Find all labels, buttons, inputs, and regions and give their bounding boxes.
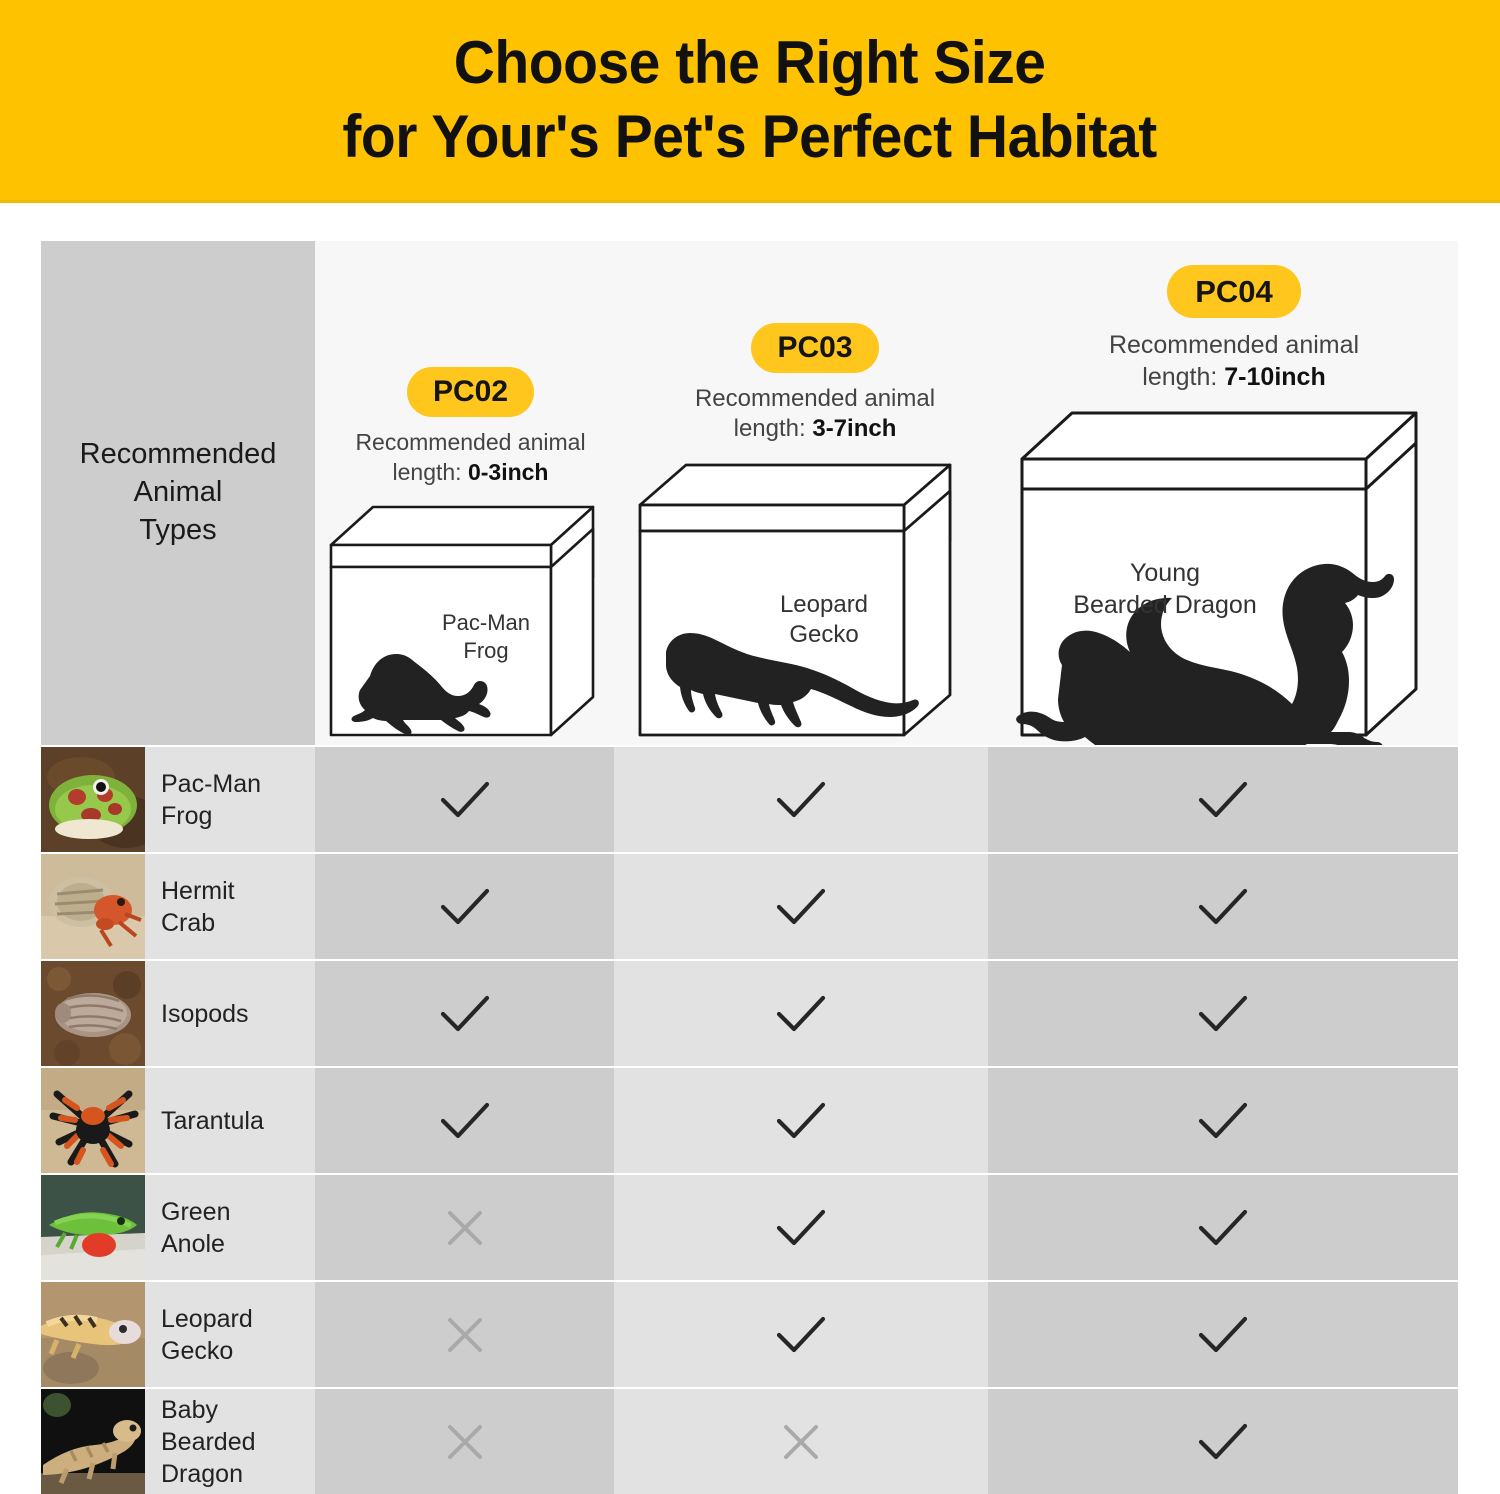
green-anole-photo bbox=[41, 1175, 145, 1280]
check-icon bbox=[437, 885, 493, 929]
product-illustration-strip: PC02 Recommended animal length: 0-3inch bbox=[315, 241, 1458, 745]
occupant-label-line-2-pc03: Gecko bbox=[789, 621, 858, 648]
product-column-pc02[interactable]: PC02 Recommended animal length: 0-3inch bbox=[321, 367, 620, 745]
table-header-row: Recommended Animal Types PC02 Recommende… bbox=[41, 241, 1458, 745]
check-icon bbox=[773, 1206, 829, 1250]
supported-check-icon bbox=[437, 992, 493, 1036]
isopods-photo bbox=[41, 961, 145, 1066]
unsupported-cross-icon bbox=[443, 1420, 487, 1464]
supported-check-icon bbox=[773, 1313, 829, 1357]
cross-icon bbox=[443, 1420, 487, 1464]
compatibility-cell bbox=[988, 961, 1458, 1066]
leopard-gecko-photo bbox=[41, 1282, 145, 1387]
animal-name-cell: GreenAnole bbox=[145, 1175, 315, 1280]
occupant-label-line-1-pc03: Leopard bbox=[780, 591, 868, 618]
compatibility-cell bbox=[614, 1389, 988, 1494]
check-icon bbox=[1195, 992, 1251, 1036]
row-header-line-2: Animal bbox=[80, 474, 277, 512]
animal-thumbnail bbox=[41, 854, 145, 959]
table-row: LeopardGecko bbox=[41, 1282, 1458, 1387]
comparison-table: Recommended Animal Types PC02 Recommende… bbox=[41, 241, 1458, 1494]
unsupported-cross-icon bbox=[443, 1313, 487, 1357]
row-header-label: Recommended Animal Types bbox=[80, 436, 277, 549]
animal-name-cell: HermitCrab bbox=[145, 854, 315, 959]
animal-name-label: Baby BeardedDragon bbox=[161, 1394, 315, 1490]
compatibility-cell bbox=[614, 747, 988, 852]
compatibility-cell bbox=[315, 1282, 614, 1387]
check-icon bbox=[1195, 1313, 1251, 1357]
product-description-pc03: Recommended animal length: 3-7inch bbox=[628, 384, 1002, 445]
animal-thumbnail bbox=[41, 1175, 145, 1280]
table-row: Tarantula bbox=[41, 1068, 1458, 1173]
supported-check-icon bbox=[437, 778, 493, 822]
supported-check-icon bbox=[1195, 778, 1251, 822]
terrarium-box-icon: Leopard Gecko bbox=[628, 455, 960, 745]
unsupported-cross-icon bbox=[443, 1206, 487, 1250]
compatibility-cell bbox=[315, 747, 614, 852]
product-desc-label-pc02: length: bbox=[393, 459, 468, 485]
product-column-pc04[interactable]: PC04 Recommended animal length: 7-10inch bbox=[1010, 265, 1458, 745]
supported-check-icon bbox=[1195, 1313, 1251, 1357]
product-desc-label-pc03: length: bbox=[734, 415, 813, 442]
page-title-line-1: Choose the Right Size bbox=[343, 26, 1157, 100]
supported-check-icon bbox=[1195, 1099, 1251, 1143]
animal-name-cell: LeopardGecko bbox=[145, 1282, 315, 1387]
animal-name-cell: Tarantula bbox=[145, 1068, 315, 1173]
compatibility-cell bbox=[315, 1068, 614, 1173]
animal-thumbnail bbox=[41, 1282, 145, 1387]
product-desc-line-1-pc02: Recommended animal bbox=[321, 428, 620, 457]
product-desc-label-pc04: length: bbox=[1142, 363, 1224, 391]
pac-man-frog-photo bbox=[41, 747, 145, 852]
product-length-value-pc04: 7-10inch bbox=[1224, 363, 1325, 391]
occupant-label-line-2-pc02: Frog bbox=[463, 638, 508, 663]
check-icon bbox=[773, 778, 829, 822]
product-desc-line-1-pc04: Recommended animal bbox=[1010, 329, 1458, 361]
animal-name-label: Tarantula bbox=[161, 1105, 264, 1137]
check-icon bbox=[1195, 1099, 1251, 1143]
compatibility-cell bbox=[988, 1068, 1458, 1173]
tarantula-photo bbox=[41, 1068, 145, 1173]
compatibility-cell bbox=[315, 961, 614, 1066]
check-icon bbox=[437, 992, 493, 1036]
supported-check-icon bbox=[1195, 885, 1251, 929]
compatibility-cell bbox=[988, 747, 1458, 852]
check-icon bbox=[773, 1313, 829, 1357]
product-badge-pc04: PC04 bbox=[1167, 265, 1301, 318]
compatibility-cell bbox=[315, 1175, 614, 1280]
row-header-line-1: Recommended bbox=[80, 436, 277, 474]
compatibility-cell bbox=[988, 1389, 1458, 1494]
row-header-line-3: Types bbox=[80, 512, 277, 550]
animal-thumbnail bbox=[41, 1389, 145, 1494]
supported-check-icon bbox=[1195, 992, 1251, 1036]
animal-name-cell: Isopods bbox=[145, 961, 315, 1066]
animal-name-label: LeopardGecko bbox=[161, 1303, 253, 1367]
occupant-label-line-2-pc04: Bearded Dragon bbox=[1073, 591, 1256, 619]
animal-name-cell: Baby BeardedDragon bbox=[145, 1389, 315, 1494]
supported-check-icon bbox=[1195, 1206, 1251, 1250]
occupant-label-line-1-pc02: Pac-Man bbox=[442, 610, 530, 635]
product-desc-line-1-pc03: Recommended animal bbox=[628, 384, 1002, 415]
cross-icon bbox=[443, 1206, 487, 1250]
compatibility-cell bbox=[614, 854, 988, 959]
check-icon bbox=[1195, 1206, 1251, 1250]
supported-check-icon bbox=[773, 1099, 829, 1143]
product-length-value-pc02: 0-3inch bbox=[468, 459, 549, 485]
table-row: Baby BeardedDragon bbox=[41, 1389, 1458, 1494]
page-title-line-2: for Your's Pet's Perfect Habitat bbox=[343, 100, 1157, 174]
animal-name-label: HermitCrab bbox=[161, 875, 235, 939]
check-icon bbox=[773, 1099, 829, 1143]
animal-name-cell: Pac-ManFrog bbox=[145, 747, 315, 852]
product-length-value-pc03: 3-7inch bbox=[812, 415, 896, 442]
supported-check-icon bbox=[773, 885, 829, 929]
compatibility-cell bbox=[614, 961, 988, 1066]
product-description-pc02: Recommended animal length: 0-3inch bbox=[321, 428, 620, 487]
supported-check-icon bbox=[773, 992, 829, 1036]
compatibility-cell bbox=[315, 854, 614, 959]
baby-bearded-dragon-photo bbox=[41, 1389, 145, 1494]
check-icon bbox=[1195, 885, 1251, 929]
animal-thumbnail bbox=[41, 747, 145, 852]
table-row: Pac-ManFrog bbox=[41, 747, 1458, 852]
supported-check-icon bbox=[1195, 1420, 1251, 1464]
check-icon bbox=[773, 885, 829, 929]
product-badge-pc02: PC02 bbox=[407, 367, 534, 417]
check-icon bbox=[437, 1099, 493, 1143]
check-icon bbox=[1195, 778, 1251, 822]
check-icon bbox=[773, 992, 829, 1036]
terrarium-box-icon: Young Bearded Dragon bbox=[1010, 403, 1428, 745]
terrarium-box-pc04: Young Bearded Dragon bbox=[1010, 403, 1458, 745]
animal-name-label: GreenAnole bbox=[161, 1196, 230, 1260]
animal-name-label: Isopods bbox=[161, 998, 249, 1030]
table-row: Isopods bbox=[41, 961, 1458, 1066]
supported-check-icon bbox=[773, 1206, 829, 1250]
table-row: HermitCrab bbox=[41, 854, 1458, 959]
terrarium-box-pc03: Leopard Gecko bbox=[628, 455, 1002, 745]
animal-thumbnail bbox=[41, 961, 145, 1066]
compatibility-cell bbox=[988, 854, 1458, 959]
terrarium-box-pc02: Pac-Man Frog bbox=[321, 497, 620, 745]
table-body: Pac-ManFrogHermitCrabIsopodsTarantulaGre… bbox=[41, 747, 1458, 1494]
compatibility-cell bbox=[614, 1068, 988, 1173]
page-title: Choose the Right Size for Your's Pet's P… bbox=[343, 26, 1157, 175]
product-desc-line-2-pc04: length: 7-10inch bbox=[1010, 361, 1458, 393]
check-icon bbox=[437, 778, 493, 822]
supported-check-icon bbox=[773, 778, 829, 822]
animal-name-label: Pac-ManFrog bbox=[161, 768, 261, 832]
row-header-cell: Recommended Animal Types bbox=[41, 241, 315, 745]
unsupported-cross-icon bbox=[779, 1420, 823, 1464]
header-banner: Choose the Right Size for Your's Pet's P… bbox=[0, 0, 1500, 203]
cross-icon bbox=[443, 1313, 487, 1357]
product-desc-line-2-pc03: length: 3-7inch bbox=[628, 414, 1002, 445]
compatibility-cell bbox=[315, 1389, 614, 1494]
occupant-label-line-1-pc04: Young bbox=[1130, 559, 1200, 587]
compatibility-cell bbox=[614, 1175, 988, 1280]
product-description-pc04: Recommended animal length: 7-10inch bbox=[1010, 329, 1458, 393]
supported-check-icon bbox=[437, 885, 493, 929]
compatibility-cell bbox=[614, 1282, 988, 1387]
product-badge-pc03: PC03 bbox=[751, 323, 878, 373]
compatibility-cell bbox=[988, 1175, 1458, 1280]
product-desc-line-2-pc02: length: 0-3inch bbox=[321, 458, 620, 487]
product-column-pc03[interactable]: PC03 Recommended animal length: 3-7inch bbox=[628, 323, 1002, 745]
hermit-crab-photo bbox=[41, 854, 145, 959]
compatibility-cell bbox=[988, 1282, 1458, 1387]
animal-thumbnail bbox=[41, 1068, 145, 1173]
cross-icon bbox=[779, 1420, 823, 1464]
supported-check-icon bbox=[437, 1099, 493, 1143]
terrarium-box-icon: Pac-Man Frog bbox=[321, 497, 599, 745]
table-row: GreenAnole bbox=[41, 1175, 1458, 1280]
check-icon bbox=[1195, 1420, 1251, 1464]
